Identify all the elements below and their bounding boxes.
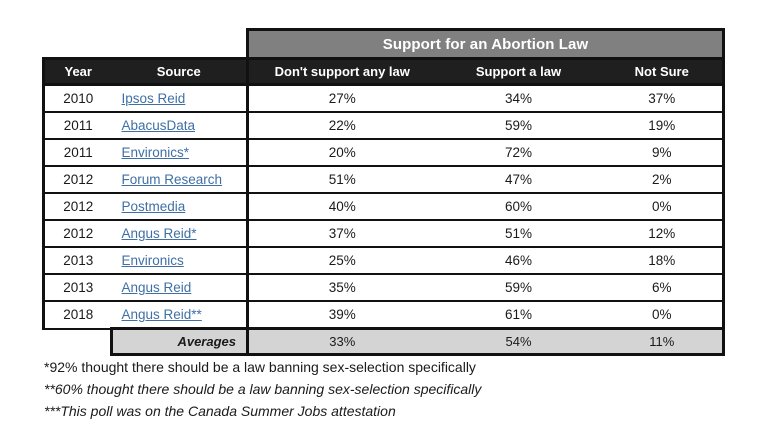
cell-not-sure: 0%: [602, 301, 724, 329]
cell-source: AbacusData: [112, 112, 248, 139]
source-link[interactable]: Environics*: [122, 145, 190, 160]
cell-support-a-law: 59%: [436, 112, 602, 139]
table-header-row: Year Source Don't support any law Suppor…: [44, 59, 724, 85]
cell-source: Forum Research: [112, 166, 248, 193]
table-row: 2011 Environics* 20% 72% 9%: [44, 139, 724, 166]
cell-support-a-law: 51%: [436, 220, 602, 247]
cell-support-a-law: 34%: [436, 85, 602, 113]
cell-support-a-law: 46%: [436, 247, 602, 274]
column-header-support-a-law: Support a law: [436, 59, 602, 85]
source-link[interactable]: Angus Reid**: [122, 307, 202, 322]
cell-not-sure: 0%: [602, 193, 724, 220]
cell-source: Postmedia: [112, 193, 248, 220]
table-row: 2012 Forum Research 51% 47% 2%: [44, 166, 724, 193]
averages-not-sure: 11%: [602, 329, 724, 355]
footnote-triple-asterisk: ***This poll was on the Canada Summer Jo…: [44, 400, 744, 422]
table-averages-row: Averages 33% 54% 11%: [44, 329, 724, 355]
cell-support-a-law: 61%: [436, 301, 602, 329]
footnotes: *92% thought there should be a law banni…: [44, 356, 744, 422]
cell-source: Angus Reid: [112, 274, 248, 301]
cell-year: 2011: [44, 112, 112, 139]
averages-empty-cell: [44, 329, 112, 355]
cell-source: Environics*: [112, 139, 248, 166]
banner-spacer-source: [112, 30, 248, 59]
cell-source: Angus Reid**: [112, 301, 248, 329]
footnote-single-asterisk: *92% thought there should be a law banni…: [44, 356, 744, 378]
source-link[interactable]: Postmedia: [122, 199, 186, 214]
cell-not-sure: 6%: [602, 274, 724, 301]
table-row: 2018 Angus Reid** 39% 61% 0%: [44, 301, 724, 329]
averages-label: Averages: [112, 329, 248, 355]
cell-not-sure: 2%: [602, 166, 724, 193]
cell-year: 2013: [44, 274, 112, 301]
poll-table-container: Support for an Abortion Law Year Source …: [42, 28, 722, 356]
cell-support-a-law: 47%: [436, 166, 602, 193]
footnote-double-asterisk: **60% thought there should be a law bann…: [44, 378, 744, 400]
cell-dont-support-any-law: 37%: [248, 220, 436, 247]
cell-not-sure: 18%: [602, 247, 724, 274]
column-header-year: Year: [44, 59, 112, 85]
cell-dont-support-any-law: 39%: [248, 301, 436, 329]
cell-not-sure: 19%: [602, 112, 724, 139]
cell-source: Ipsos Reid: [112, 85, 248, 113]
cell-source: Environics: [112, 247, 248, 274]
cell-year: 2012: [44, 193, 112, 220]
table-row: 2013 Environics 25% 46% 18%: [44, 247, 724, 274]
cell-year: 2013: [44, 247, 112, 274]
source-link[interactable]: Angus Reid: [122, 280, 192, 295]
cell-support-a-law: 60%: [436, 193, 602, 220]
cell-support-a-law: 72%: [436, 139, 602, 166]
cell-not-sure: 9%: [602, 139, 724, 166]
cell-source: Angus Reid*: [112, 220, 248, 247]
table-row: 2012 Postmedia 40% 60% 0%: [44, 193, 724, 220]
table-banner-title: Support for an Abortion Law: [248, 30, 724, 59]
cell-dont-support-any-law: 35%: [248, 274, 436, 301]
table-row: 2012 Angus Reid* 37% 51% 12%: [44, 220, 724, 247]
cell-support-a-law: 59%: [436, 274, 602, 301]
cell-dont-support-any-law: 22%: [248, 112, 436, 139]
source-link[interactable]: Ipsos Reid: [122, 91, 186, 106]
table-row: 2010 Ipsos Reid 27% 34% 37%: [44, 85, 724, 113]
table-banner-row: Support for an Abortion Law: [44, 30, 724, 59]
cell-dont-support-any-law: 27%: [248, 85, 436, 113]
cell-not-sure: 12%: [602, 220, 724, 247]
cell-dont-support-any-law: 51%: [248, 166, 436, 193]
source-link[interactable]: AbacusData: [122, 118, 196, 133]
table-row: 2011 AbacusData 22% 59% 19%: [44, 112, 724, 139]
averages-dont-support-any-law: 33%: [248, 329, 436, 355]
poll-results-page: Support for an Abortion Law Year Source …: [0, 0, 768, 439]
abortion-law-poll-table: Support for an Abortion Law Year Source …: [42, 28, 725, 356]
column-header-source: Source: [112, 59, 248, 85]
averages-support-a-law: 54%: [436, 329, 602, 355]
banner-spacer-year: [44, 30, 112, 59]
table-row: 2013 Angus Reid 35% 59% 6%: [44, 274, 724, 301]
cell-year: 2010: [44, 85, 112, 113]
column-header-not-sure: Not Sure: [602, 59, 724, 85]
column-header-dont-support-any-law: Don't support any law: [248, 59, 436, 85]
cell-not-sure: 37%: [602, 85, 724, 113]
cell-dont-support-any-law: 20%: [248, 139, 436, 166]
source-link[interactable]: Angus Reid*: [122, 226, 197, 241]
source-link[interactable]: Forum Research: [122, 172, 223, 187]
cell-year: 2012: [44, 220, 112, 247]
cell-dont-support-any-law: 25%: [248, 247, 436, 274]
cell-dont-support-any-law: 40%: [248, 193, 436, 220]
cell-year: 2011: [44, 139, 112, 166]
source-link[interactable]: Environics: [122, 253, 184, 268]
cell-year: 2012: [44, 166, 112, 193]
cell-year: 2018: [44, 301, 112, 329]
